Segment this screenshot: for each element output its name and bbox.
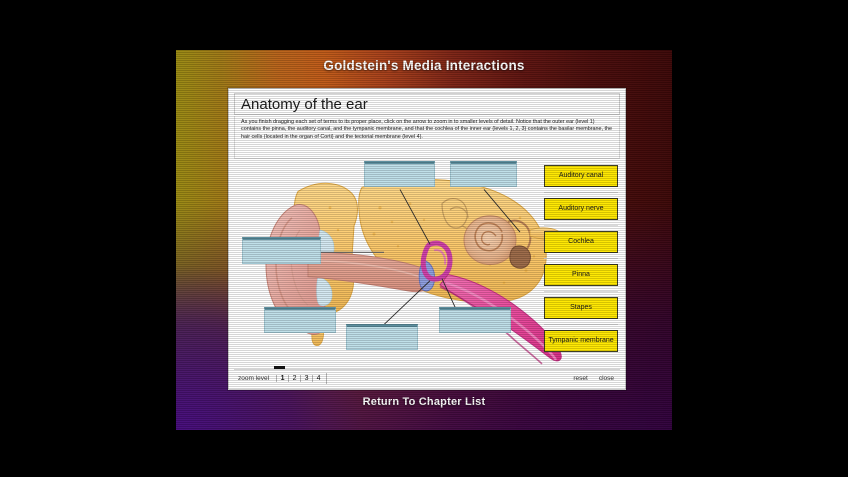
term-label-cochlea[interactable]: Cochlea: [544, 231, 618, 253]
term-label-tympanic-membrane[interactable]: Tympanic membrane: [544, 330, 618, 352]
instructions-text: As you finish dragging each set of terms…: [241, 119, 613, 141]
diagram-canvas: Auditory canalAuditory nerveCochleaPinna…: [234, 159, 620, 367]
term-separator: [544, 192, 618, 193]
dz-top-right[interactable]: [450, 161, 517, 187]
zoom-group-divider: [326, 373, 327, 384]
leader-line-bottom-right: [442, 279, 456, 309]
activity-title-box: Anatomy of the ear: [234, 93, 620, 115]
zoom-level-3[interactable]: 3: [300, 375, 312, 382]
leader-line-top-right: [484, 189, 520, 232]
zoom-control-bar: zoom level 1 2 3 4 reset close: [234, 369, 620, 386]
leader-line-bottom-mid: [382, 281, 430, 327]
term-separator: [544, 291, 618, 292]
term-label-auditory-canal[interactable]: Auditory canal: [544, 165, 618, 187]
zoom-level-marker: [274, 366, 285, 369]
term-label-stapes[interactable]: Stapes: [544, 297, 618, 319]
close-button[interactable]: close: [599, 375, 614, 382]
term-separator: [544, 225, 618, 226]
zoom-level-4[interactable]: 4: [312, 375, 324, 382]
zoom-level-label: zoom level: [238, 375, 269, 382]
activity-panel: Anatomy of the ear As you finish draggin…: [228, 88, 626, 390]
instructions-box: As you finish dragging each set of terms…: [234, 116, 620, 159]
term-label-pinna[interactable]: Pinna: [544, 264, 618, 286]
presentation-frame: Goldstein's Media Interactions Anatomy o…: [176, 50, 672, 430]
dz-bottom-mid[interactable]: [346, 324, 418, 350]
dz-bottom-left[interactable]: [264, 307, 336, 333]
dz-top-left[interactable]: [364, 161, 435, 187]
panel-actions: reset close: [573, 375, 620, 382]
zoom-level-group: zoom level 1 2 3 4: [234, 373, 327, 384]
page-title: Anatomy of the ear: [241, 96, 368, 113]
term-label-auditory-nerve[interactable]: Auditory nerve: [544, 198, 618, 220]
term-separator: [544, 324, 618, 325]
app-title: Goldstein's Media Interactions: [176, 58, 672, 73]
term-bank: Auditory canalAuditory nerveCochleaPinna…: [544, 165, 618, 363]
return-to-chapter-list-link[interactable]: Return To Chapter List: [176, 396, 672, 408]
dz-mid-left[interactable]: [242, 237, 321, 264]
zoom-level-2[interactable]: 2: [288, 375, 300, 382]
dz-bottom-right[interactable]: [439, 307, 511, 333]
term-separator: [544, 258, 618, 259]
reset-button[interactable]: reset: [573, 375, 587, 382]
screen: Goldstein's Media Interactions Anatomy o…: [0, 0, 848, 477]
zoom-level-1[interactable]: 1: [276, 375, 288, 382]
leader-line-top-left: [400, 189, 430, 244]
